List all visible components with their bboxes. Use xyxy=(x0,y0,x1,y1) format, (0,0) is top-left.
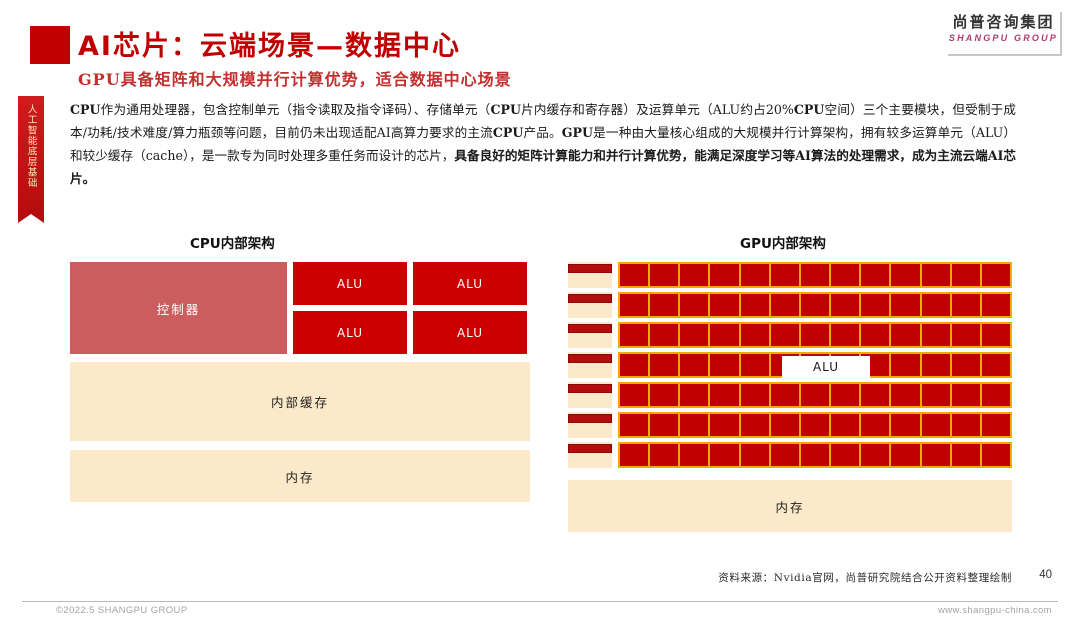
gpu-core-cell xyxy=(861,414,889,436)
gpu-core-cell xyxy=(982,264,1010,286)
gpu-core-cell xyxy=(650,294,678,316)
cpu-memory-bar: 内存 xyxy=(70,450,530,502)
gpu-memory-bar: 内存 xyxy=(568,480,1012,532)
gpu-core-cell xyxy=(771,414,799,436)
gpu-core-cell xyxy=(952,324,980,346)
gpu-control-cell xyxy=(568,322,612,348)
gpu-core-cell xyxy=(801,324,829,346)
gpu-core-cell xyxy=(891,294,919,316)
gpu-core-cell xyxy=(891,324,919,346)
gpu-core-cell xyxy=(922,354,950,376)
gpu-row xyxy=(568,382,1012,408)
gpu-core-cell xyxy=(650,324,678,346)
gpu-core-cell xyxy=(620,294,648,316)
gpu-core-cell xyxy=(831,324,859,346)
gpu-control-bar xyxy=(568,324,612,333)
gpu-core-cell xyxy=(922,444,950,466)
gpu-core-row xyxy=(618,382,1012,408)
gpu-core-cell xyxy=(861,384,889,406)
gpu-core-cell xyxy=(771,384,799,406)
gpu-control-cell xyxy=(568,382,612,408)
gpu-core-cell xyxy=(741,444,769,466)
gpu-core-cell xyxy=(982,294,1010,316)
cpu-cache-bar: 内部缓存 xyxy=(70,362,530,441)
gpu-row xyxy=(568,442,1012,468)
gpu-core-cell xyxy=(650,384,678,406)
cpu-alu-block: ALU xyxy=(413,262,527,305)
cpu-alu-grid: ALU ALU ALU ALU xyxy=(293,262,527,354)
footer-website: www.shangpu-china.com xyxy=(938,605,1052,616)
gpu-core-cell xyxy=(680,324,708,346)
gpu-core-cell xyxy=(982,324,1010,346)
gpu-core-cell xyxy=(922,384,950,406)
brand-logo: 尚普咨询集团 SHANGPU GROUP xyxy=(949,14,1058,49)
gpu-core-cell xyxy=(952,444,980,466)
gpu-control-bar xyxy=(568,414,612,423)
gpu-core-cell xyxy=(891,444,919,466)
gpu-core-row xyxy=(618,442,1012,468)
gpu-core-cell xyxy=(771,264,799,286)
gpu-core-cell xyxy=(922,324,950,346)
gpu-row xyxy=(568,322,1012,348)
gpu-row xyxy=(568,412,1012,438)
gpu-core-cell xyxy=(801,294,829,316)
gpu-control-cell xyxy=(568,262,612,288)
gpu-core-cell xyxy=(771,324,799,346)
gpu-core-cell xyxy=(620,324,648,346)
gpu-core-cell xyxy=(710,264,738,286)
gpu-core-cell xyxy=(831,294,859,316)
gpu-core-cell xyxy=(710,294,738,316)
title-accent-bar xyxy=(30,26,70,64)
gpu-control-bar xyxy=(568,264,612,273)
gpu-core-cell xyxy=(982,354,1010,376)
gpu-core-row xyxy=(618,322,1012,348)
gpu-core-cell xyxy=(771,444,799,466)
gpu-core-cell xyxy=(620,384,648,406)
gpu-core-cell xyxy=(891,264,919,286)
gpu-core-cell xyxy=(922,264,950,286)
gpu-core-cell xyxy=(710,414,738,436)
cpu-diagram: 控制器 ALU ALU ALU ALU 内部缓存 内存 xyxy=(70,262,530,502)
gpu-core-cell xyxy=(741,264,769,286)
gpu-core-cell xyxy=(620,264,648,286)
gpu-core-cell xyxy=(982,384,1010,406)
gpu-core-cell xyxy=(891,354,919,376)
source-note: 资料来源：Nvidia官网，尚普研究院结合公开资料整理绘制 xyxy=(718,570,1012,585)
gpu-core-cell xyxy=(741,384,769,406)
gpu-core-cell xyxy=(741,294,769,316)
gpu-core-cell xyxy=(680,414,708,436)
gpu-core-cell xyxy=(650,414,678,436)
gpu-control-bar xyxy=(568,384,612,393)
cpu-diagram-title: CPU内部架构 xyxy=(190,232,275,252)
gpu-core-row xyxy=(618,262,1012,288)
gpu-control-bar xyxy=(568,354,612,363)
gpu-core-cell xyxy=(922,414,950,436)
brand-name-cn: 尚普咨询集团 xyxy=(949,14,1058,31)
body-paragraph: CPU作为通用处理器，包含控制单元（指令读取及指令译码）、存储单元（CPU片内缓… xyxy=(70,99,1016,191)
gpu-control-bar xyxy=(568,294,612,303)
gpu-row xyxy=(568,292,1012,318)
logo-divider-vertical xyxy=(1060,12,1062,56)
page-title: AI芯片：云端场景—数据中心 xyxy=(78,24,461,63)
gpu-core-cell xyxy=(952,384,980,406)
cpu-alu-block: ALU xyxy=(293,262,407,305)
gpu-core-cell xyxy=(680,294,708,316)
gpu-core-cell xyxy=(801,384,829,406)
gpu-core-cell xyxy=(952,264,980,286)
gpu-core-grid: ALU xyxy=(568,262,1012,468)
gpu-core-cell xyxy=(952,294,980,316)
slide-canvas: AI芯片：云端场景—数据中心 GPU具备矩阵和大规模并行计算优势，适合数据中心场… xyxy=(0,0,1080,623)
gpu-core-cell xyxy=(982,414,1010,436)
gpu-core-cell xyxy=(801,264,829,286)
cpu-top-row: 控制器 ALU ALU ALU ALU xyxy=(70,262,530,354)
gpu-core-cell xyxy=(861,294,889,316)
gpu-core-cell xyxy=(861,264,889,286)
gpu-control-cell xyxy=(568,412,612,438)
cpu-control-unit: 控制器 xyxy=(70,262,287,354)
footer-divider xyxy=(22,601,1058,602)
gpu-core-cell xyxy=(741,324,769,346)
page-subtitle: GPU具备矩阵和大规模并行计算优势，适合数据中心场景 xyxy=(78,66,512,90)
gpu-control-bar xyxy=(568,444,612,453)
gpu-core-row xyxy=(618,412,1012,438)
gpu-core-cell xyxy=(891,384,919,406)
gpu-core-cell xyxy=(620,354,648,376)
logo-divider-horizontal xyxy=(948,54,1060,56)
gpu-diagram: ALU 内存 xyxy=(568,262,1012,532)
gpu-core-row xyxy=(618,292,1012,318)
gpu-core-cell xyxy=(680,354,708,376)
cpu-alu-block: ALU xyxy=(413,311,527,354)
side-ribbon-tab: 人工智能底层基础 xyxy=(18,96,44,214)
gpu-core-cell xyxy=(952,354,980,376)
gpu-core-cell xyxy=(710,324,738,346)
gpu-control-cell xyxy=(568,442,612,468)
gpu-core-cell xyxy=(710,354,738,376)
gpu-core-cell xyxy=(891,414,919,436)
page-number: 40 xyxy=(1039,569,1052,581)
gpu-core-cell xyxy=(620,414,648,436)
gpu-core-cell xyxy=(831,264,859,286)
gpu-core-cell xyxy=(680,444,708,466)
gpu-core-cell xyxy=(922,294,950,316)
gpu-core-cell xyxy=(861,444,889,466)
gpu-core-cell xyxy=(982,444,1010,466)
gpu-control-cell xyxy=(568,292,612,318)
gpu-core-cell xyxy=(650,264,678,286)
gpu-core-cell xyxy=(831,444,859,466)
gpu-core-cell xyxy=(620,444,648,466)
brand-name-en: SHANGPU GROUP xyxy=(949,33,1058,43)
gpu-alu-callout: ALU xyxy=(782,356,870,378)
gpu-core-cell xyxy=(650,354,678,376)
gpu-core-cell xyxy=(741,354,769,376)
gpu-core-cell xyxy=(801,444,829,466)
cpu-alu-block: ALU xyxy=(293,311,407,354)
gpu-core-cell xyxy=(801,414,829,436)
footer-copyright: ©2022.5 SHANGPU GROUP xyxy=(56,605,188,616)
side-ribbon-label: 人工智能底层基础 xyxy=(25,104,36,188)
gpu-core-cell xyxy=(680,384,708,406)
gpu-core-cell xyxy=(831,414,859,436)
gpu-core-cell xyxy=(650,444,678,466)
gpu-core-cell xyxy=(771,294,799,316)
gpu-diagram-title: GPU内部架构 xyxy=(740,232,826,252)
body-paragraph-text: CPU作为通用处理器，包含控制单元（指令读取及指令译码）、存储单元（CPU片内缓… xyxy=(70,102,1016,186)
gpu-core-cell xyxy=(741,414,769,436)
gpu-core-cell xyxy=(710,384,738,406)
gpu-control-cell xyxy=(568,352,612,378)
gpu-core-cell xyxy=(680,264,708,286)
gpu-row xyxy=(568,262,1012,288)
gpu-core-cell xyxy=(952,414,980,436)
gpu-core-cell xyxy=(710,444,738,466)
gpu-core-cell xyxy=(861,324,889,346)
gpu-core-cell xyxy=(831,384,859,406)
